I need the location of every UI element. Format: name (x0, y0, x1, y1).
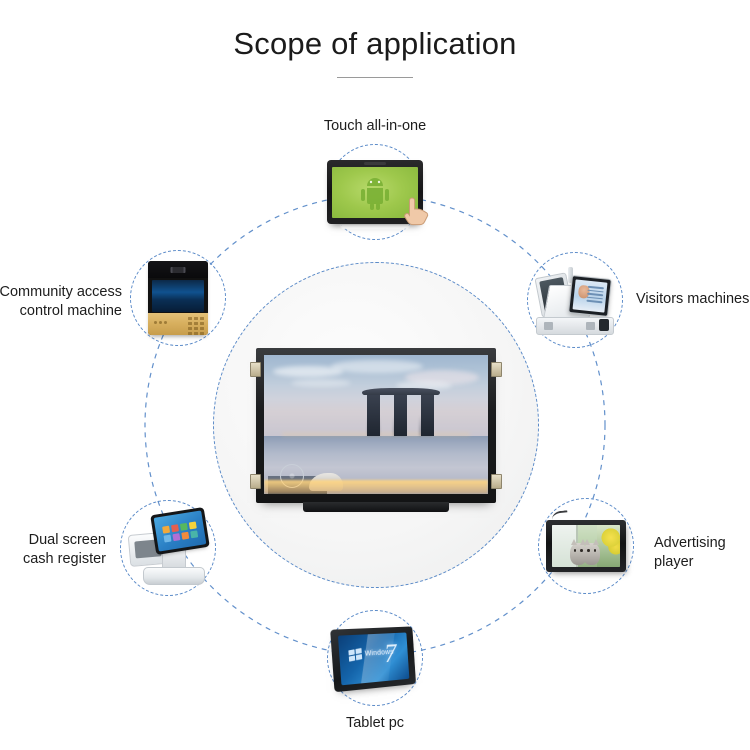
touch-all-in-one-icon (327, 160, 423, 224)
lcd-mount-tab-top-left (250, 362, 261, 377)
hotel-tower (421, 393, 434, 436)
kitten (583, 543, 600, 565)
label-visitors-machines: Visitors machines (636, 290, 750, 309)
node-dual-screen-cash-register[interactable] (120, 500, 216, 596)
register-base (143, 567, 205, 585)
lcd-mount-tab-top-right (491, 362, 502, 377)
vent (586, 322, 595, 330)
card-reader-icon (599, 319, 609, 331)
seven-numeral: 7 (384, 641, 398, 667)
tablet-pc-icon: Windows 7 (333, 628, 417, 688)
node-community-access-control-machine[interactable] (130, 250, 226, 346)
lcd-mount-tab-bottom-right (491, 474, 502, 489)
speaker-icon (154, 321, 167, 324)
kitten-eyes (583, 549, 600, 552)
device-screen (152, 280, 204, 312)
label-touch-all-in-one: Touch all-in-one (275, 117, 475, 136)
tablet-stand (340, 225, 409, 229)
lcd-mount-tab-bottom-left (250, 474, 261, 489)
hotel-tower (394, 393, 407, 436)
label-community-access-control-machine: Community access control machine (0, 283, 122, 321)
pointing-hand-icon (402, 193, 432, 227)
label-advertising-player: Advertising player (654, 534, 750, 572)
community-access-control-machine-icon (148, 261, 208, 335)
lcd-stand (303, 502, 449, 512)
primary-display (150, 507, 210, 555)
lcd-display-panel (256, 348, 496, 503)
gold-keypad-panel (148, 313, 208, 335)
scope-of-application-infographic: Scope of application (0, 0, 750, 750)
node-touch-all-in-one[interactable] (327, 144, 423, 240)
kiosk-base (536, 317, 614, 335)
android-robot-icon (360, 176, 390, 210)
tablet-speaker-notch (364, 162, 386, 165)
lcd-screen-image (264, 355, 488, 494)
keypad (188, 317, 204, 335)
cloud (331, 360, 423, 373)
skypark-deck (362, 388, 440, 395)
label-tablet-pc: Tablet pc (275, 714, 475, 733)
windows-logo-icon (348, 648, 362, 662)
camera-icon (171, 267, 186, 273)
front-screen (568, 275, 612, 317)
front-screen-display (573, 279, 608, 312)
node-advertising-player[interactable] (538, 498, 634, 594)
label-dual-screen-cash-register: Dual screen cash register (0, 531, 106, 569)
tablet-screen: Windows 7 (338, 632, 409, 685)
dual-screen-cash-register-icon (129, 511, 207, 585)
marina-bay-sands-building (367, 393, 435, 436)
form-fields (586, 286, 604, 305)
cloud (291, 379, 351, 387)
vent (544, 322, 553, 330)
advertising-player-icon (546, 520, 626, 572)
node-visitors-machines[interactable] (527, 252, 623, 348)
waterfront-lights (264, 480, 488, 494)
display-screen (552, 525, 620, 567)
app-tiles (162, 521, 198, 542)
hotel-tower (367, 393, 380, 436)
yellow-flowers (597, 525, 620, 567)
tablet-body: Windows 7 (330, 626, 416, 692)
primary-display-screen (154, 510, 207, 551)
node-tablet-pc[interactable]: Windows 7 (327, 610, 423, 706)
visitors-machines-icon (534, 265, 616, 335)
